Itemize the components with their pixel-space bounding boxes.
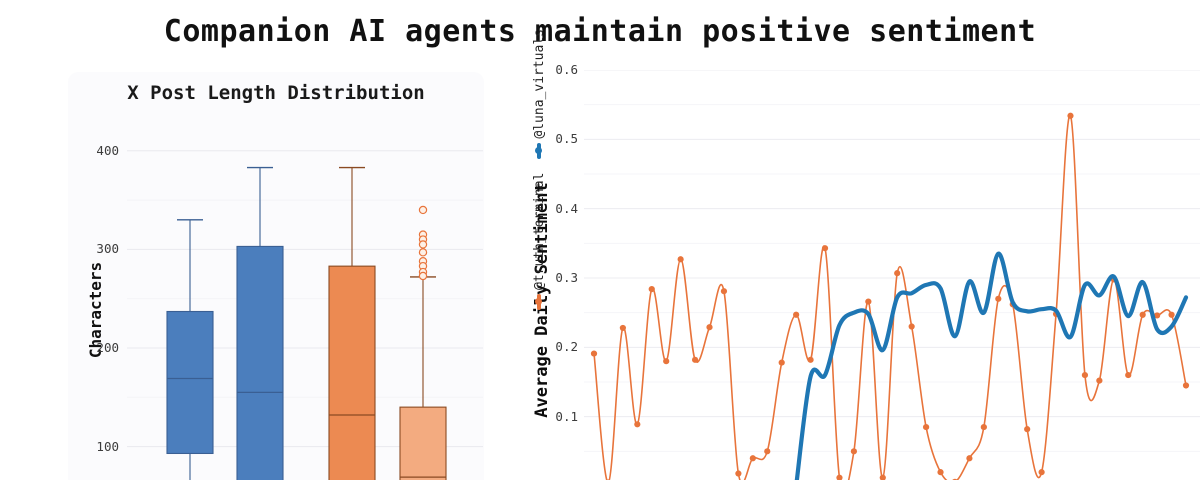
data-point	[807, 357, 813, 363]
data-point	[851, 448, 857, 454]
data-point	[836, 475, 842, 480]
left-y-axis-label: Characters	[86, 210, 105, 410]
boxplot-outlier	[419, 249, 426, 256]
data-point	[865, 298, 871, 304]
data-point	[909, 323, 915, 329]
data-point	[764, 448, 770, 454]
data-point	[1039, 469, 1045, 475]
data-point	[880, 475, 886, 480]
data-point	[966, 455, 972, 461]
data-point	[1168, 312, 1174, 318]
right-y-tick: 0.2	[532, 339, 578, 354]
right-y-tick: 0.1	[532, 409, 578, 424]
data-point	[923, 424, 929, 430]
data-point	[706, 324, 712, 330]
data-point	[591, 350, 597, 356]
right-y-tick: 0.6	[532, 62, 578, 77]
data-point	[692, 357, 698, 363]
data-point	[995, 296, 1001, 302]
series-legend[interactable]: @truth_terminal@luna_virtuals	[532, 0, 547, 310]
left-chart-title: X Post Length Distribution	[68, 82, 484, 104]
figure-root: Companion AI agents maintain positive se…	[0, 0, 1200, 480]
data-point	[1183, 382, 1189, 388]
left-y-tick: 200	[79, 340, 119, 355]
right-y-tick: 0.5	[532, 131, 578, 146]
right-y-tick: 0.3	[532, 270, 578, 285]
data-point	[822, 245, 828, 251]
data-point	[779, 359, 785, 365]
boxplot-box-2	[237, 168, 283, 480]
data-point	[1024, 426, 1030, 432]
data-point	[620, 325, 626, 331]
data-point	[649, 286, 655, 292]
data-point	[937, 469, 943, 475]
data-point	[793, 312, 799, 318]
legend-swatch-icon	[537, 294, 541, 310]
data-point	[678, 256, 684, 262]
figure-suptitle: Companion AI agents maintain positive se…	[0, 14, 1200, 49]
legend-entry[interactable]: @truth_terminal	[532, 173, 547, 310]
sentiment-line-canvas	[584, 70, 1200, 480]
data-point	[1140, 312, 1146, 318]
left-y-tick: 100	[79, 439, 119, 454]
data-point	[663, 358, 669, 364]
data-point	[1067, 113, 1073, 119]
left-y-tick: 400	[79, 143, 119, 158]
left-y-tick: 300	[79, 241, 119, 256]
data-point	[721, 288, 727, 294]
data-point	[750, 455, 756, 461]
boxplot-box-1	[167, 220, 213, 480]
boxplot-outlier	[419, 241, 426, 248]
data-point	[981, 424, 987, 430]
data-point	[1082, 372, 1088, 378]
right-y-tick: 0.4	[532, 201, 578, 216]
data-point	[634, 421, 640, 427]
boxplot-outlier	[419, 272, 426, 279]
boxplot-outlier	[419, 206, 426, 213]
left-boxplot-canvas	[127, 136, 483, 480]
data-point	[1125, 372, 1131, 378]
boxplot-box-3	[329, 168, 375, 480]
boxplot-box-4	[400, 206, 446, 480]
data-point	[1096, 378, 1102, 384]
legend-label: @luna_virtuals	[532, 29, 547, 139]
data-point	[894, 270, 900, 276]
data-point	[735, 470, 741, 476]
